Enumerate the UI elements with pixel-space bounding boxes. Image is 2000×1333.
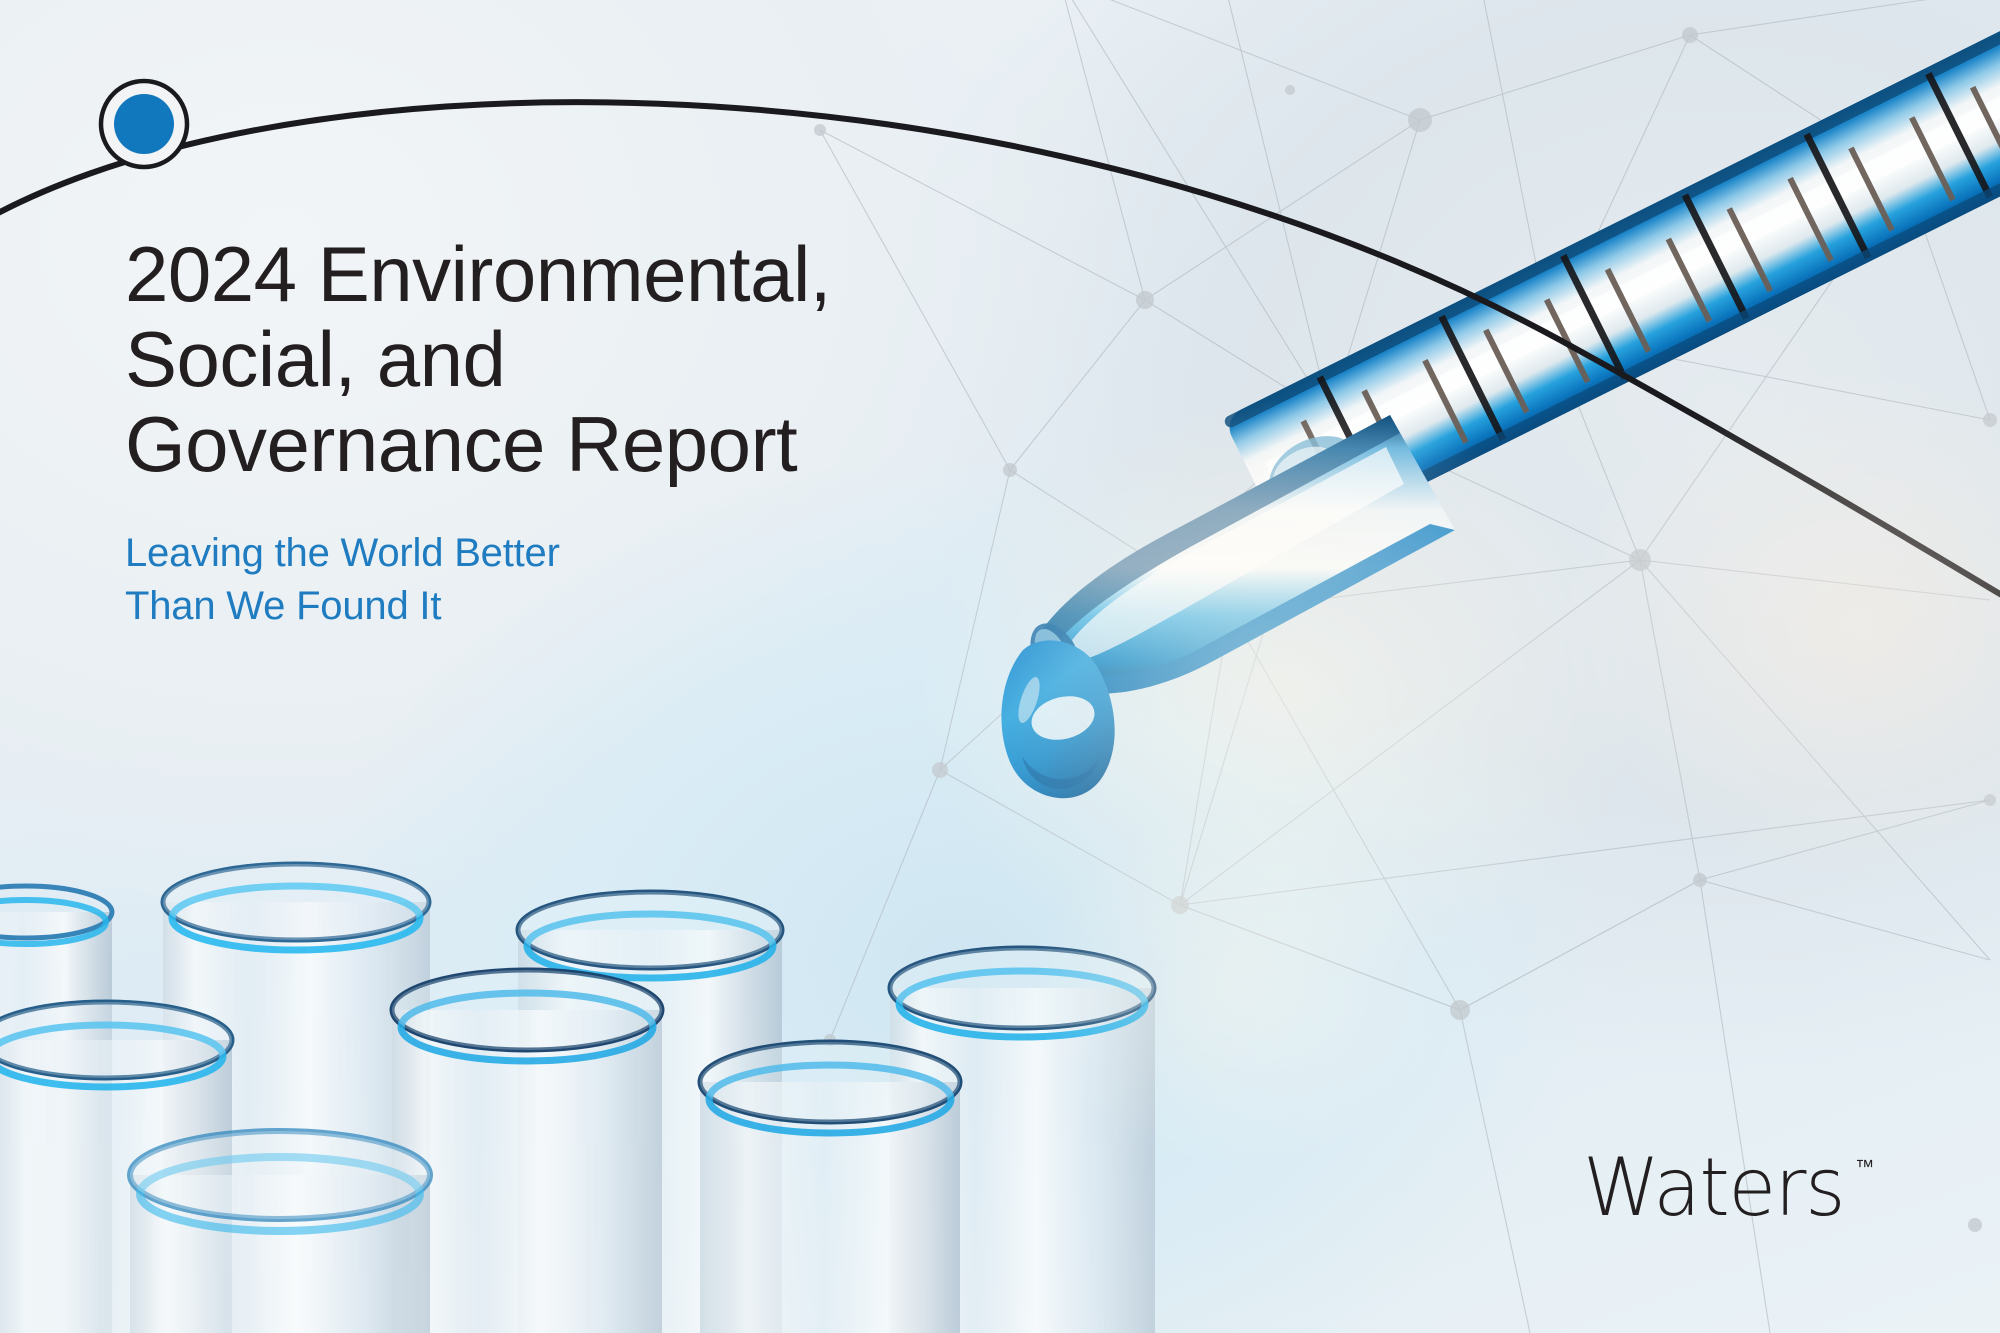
esg-report-cover: 2024 Environmental, Social, and Governan… — [0, 0, 2000, 1333]
warm-light-overlay — [0, 0, 2000, 1333]
page-title: 2024 Environmental, Social, and Governan… — [125, 232, 1105, 487]
cover-text-block: 2024 Environmental, Social, and Governan… — [125, 232, 1105, 633]
trademark-symbol: ™ — [1855, 1158, 1875, 1177]
page-subtitle: Leaving the World Better Than We Found I… — [125, 527, 1105, 633]
waters-logo: Waters ™ — [1583, 1148, 1875, 1228]
waters-logo-wordmark: Waters — [1583, 1148, 1844, 1228]
